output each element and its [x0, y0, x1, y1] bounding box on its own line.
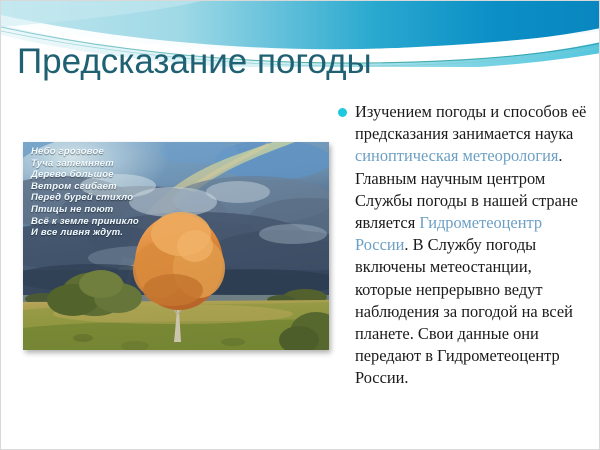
paragraph-run: Изучением погоды и способов её предсказа…	[355, 102, 586, 143]
poem-overlay: Небо грозовое Туча затемняет Дерево боль…	[31, 146, 231, 239]
body-paragraph: Изучением погоды и способов её предсказа…	[355, 101, 591, 390]
poem-line: Птицы не поют	[31, 204, 231, 216]
landscape-photo: Небо грозовое Туча затемняет Дерево боль…	[23, 142, 329, 350]
presentation-slide: Предсказание погоды	[0, 0, 600, 450]
highlighted-term: синоптическая метеорология	[355, 146, 558, 165]
poem-line: Перед бурей стихло	[31, 192, 231, 204]
bullet-list-item: Изучением погоды и способов её предсказа…	[338, 101, 591, 390]
body-text-block: Изучением погоды и способов её предсказа…	[338, 101, 591, 390]
poem-line: Всё к земле приникло	[31, 216, 231, 228]
poem-line: Туча затемняет	[31, 158, 231, 170]
paragraph-run: . В Службу погоды включены метеостанции,…	[355, 235, 573, 387]
poem-line: Ветром сгибает	[31, 181, 231, 193]
poem-line: И все ливня ждут.	[31, 227, 231, 239]
bullet-dot-icon	[338, 108, 347, 117]
page-title: Предсказание погоды	[17, 41, 437, 83]
poem-line: Небо грозовое	[31, 146, 231, 158]
poem-line: Дерево большое	[31, 169, 231, 181]
